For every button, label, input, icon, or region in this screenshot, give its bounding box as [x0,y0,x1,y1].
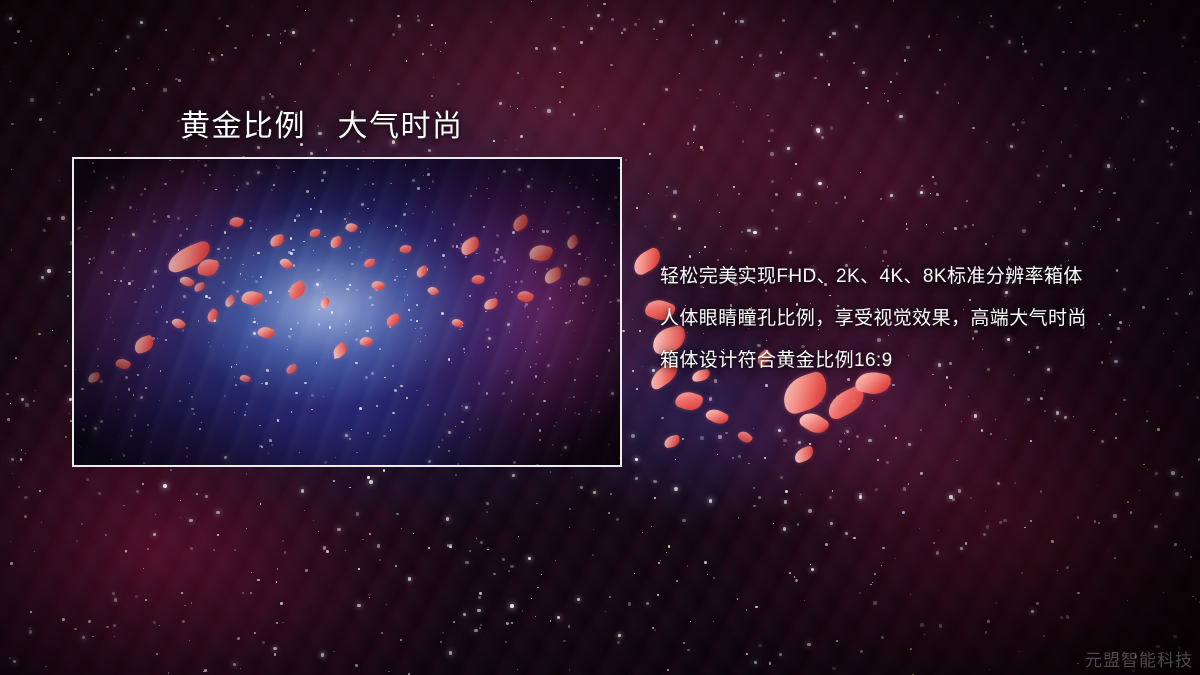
body-text-block: 轻松完美实现FHD、2K、4K、8K标准分辨率箱体 人体眼睛瞳孔比例，享受视觉效… [660,256,1180,382]
body-line-2: 人体眼睛瞳孔比例，享受视觉效果，高端大气时尚 [660,298,1180,340]
flower-petal [704,406,730,428]
flower-petal [663,434,681,448]
flower-petal [736,429,753,446]
page-title: 黄金比例 大气时尚 [180,101,464,145]
display-panel-frame [72,157,622,467]
body-line-1: 轻松完美实现FHD、2K、4K、8K标准分辨率箱体 [660,256,1180,298]
flower-petal [823,384,869,421]
body-line-3: 箱体设计符合黄金比例16:9 [660,340,1180,382]
flower-petal [792,445,815,464]
display-panel-content [74,159,620,465]
flower-petal [674,388,704,413]
slide-canvas: 黄金比例 大气时尚 轻松完美实现FHD、2K、4K、8K标准分辨率箱体 人体眼睛… [0,0,1200,675]
watermark-label: 元盟智能科技 [1085,646,1193,671]
flower-petal [797,408,830,439]
panel-vignette [74,159,620,465]
